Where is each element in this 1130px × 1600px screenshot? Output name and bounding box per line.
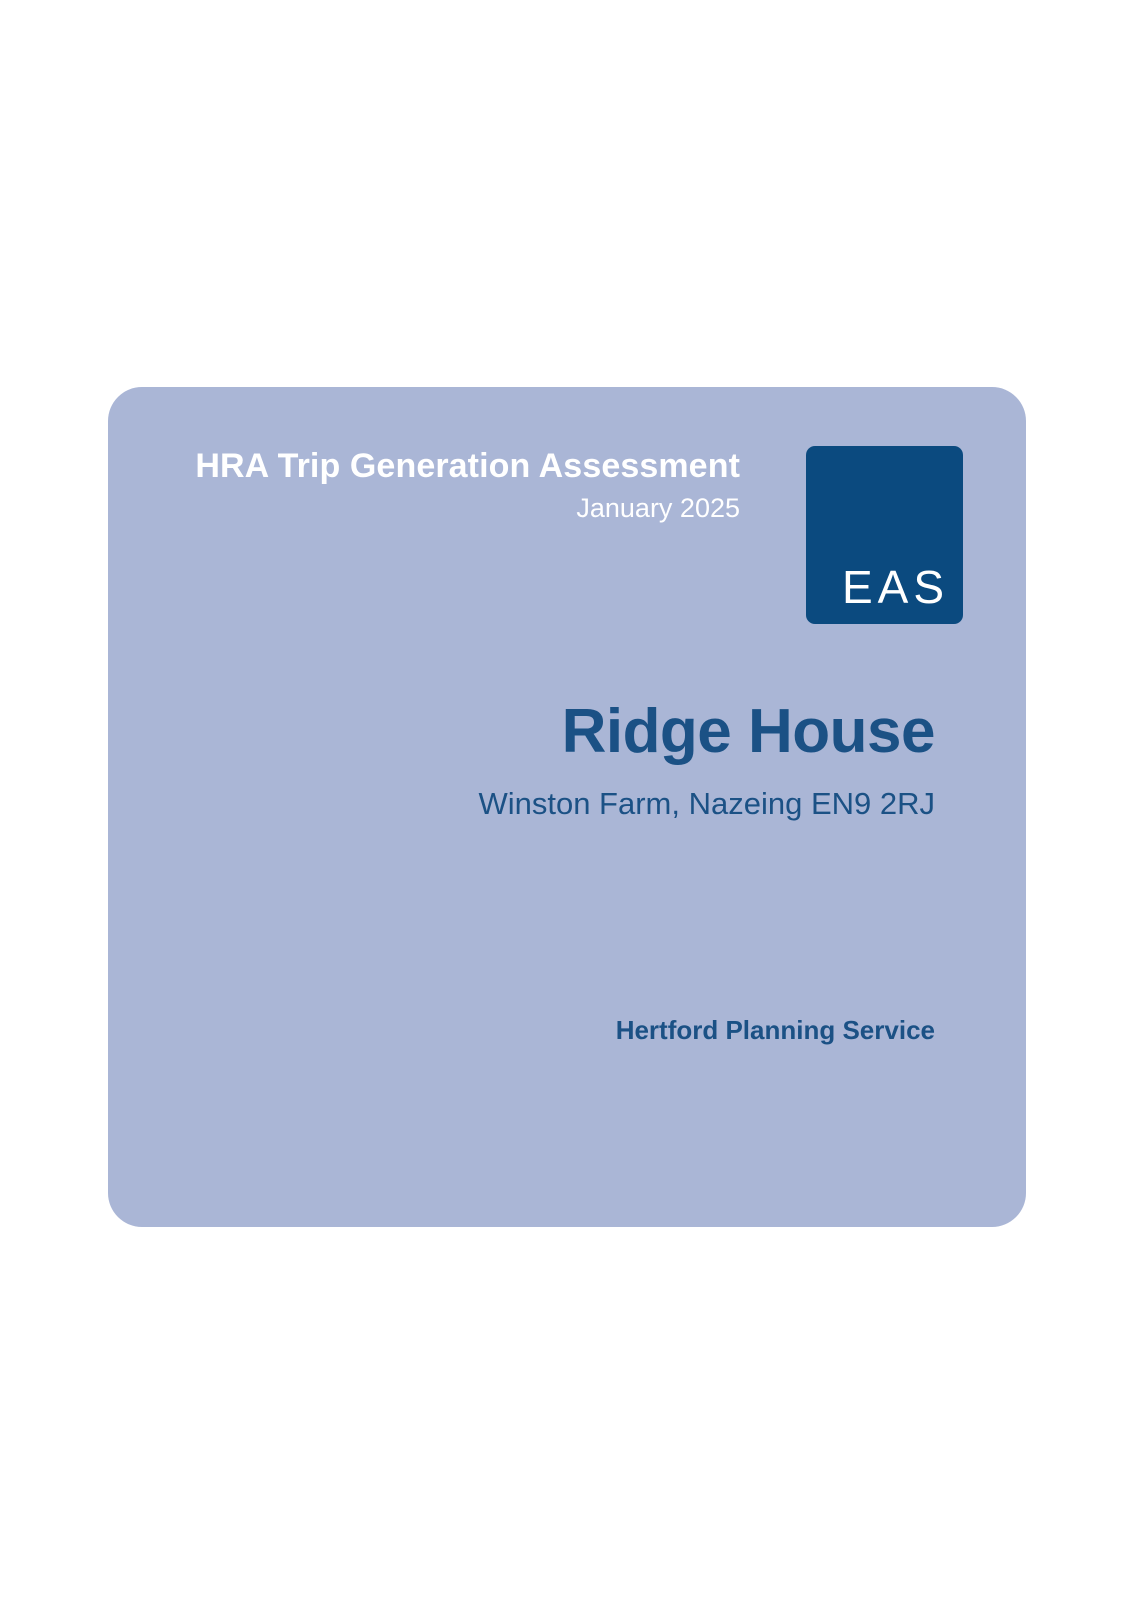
client-block: Hertford Planning Service [215,1015,935,1046]
cover-header: HRA Trip Generation Assessment January 2… [108,415,1026,615]
document-title: HRA Trip Generation Assessment [180,445,740,488]
document-page: HRA Trip Generation Assessment January 2… [0,0,1130,1600]
eas-logo-icon: EAS [806,446,963,624]
document-date: January 2025 [180,492,740,526]
document-title-group: HRA Trip Generation Assessment January 2… [180,445,740,526]
cover-panel: HRA Trip Generation Assessment January 2… [108,387,1026,1227]
eas-logo-text: EAS [842,564,949,610]
project-address: Winston Farm, Nazeing EN9 2RJ [215,785,935,822]
client-name: Hertford Planning Service [215,1015,935,1046]
project-name: Ridge House [215,699,935,766]
project-identity-block: Ridge House Winston Farm, Nazeing EN9 2R… [215,699,935,822]
